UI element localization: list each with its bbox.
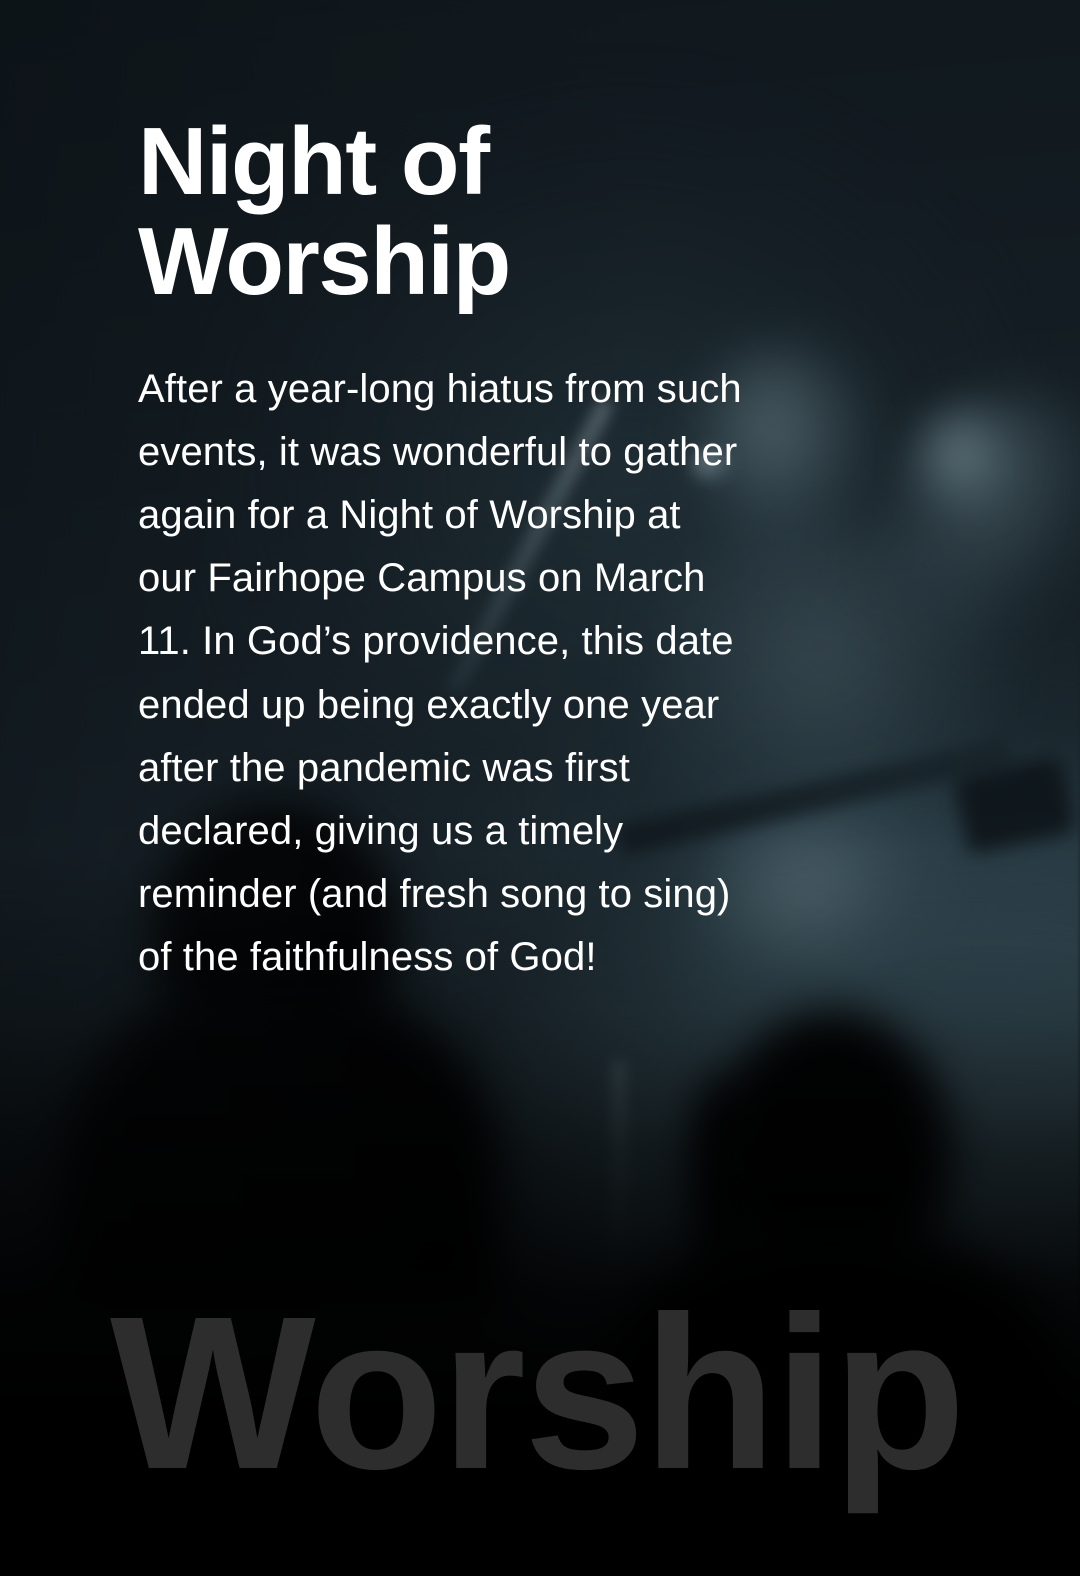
- poster-canvas: Worship Night ofWorship After a year-lon…: [0, 0, 1080, 1576]
- text-content-block: Night ofWorship After a year-long hiatus…: [138, 112, 748, 990]
- title-line-2: Worship: [138, 208, 510, 315]
- title-line-1: Night of: [138, 108, 489, 215]
- body-paragraph: After a year-long hiatus from such event…: [138, 358, 748, 990]
- page-title: Night ofWorship: [138, 112, 608, 312]
- watermark-word: Worship: [110, 1305, 964, 1484]
